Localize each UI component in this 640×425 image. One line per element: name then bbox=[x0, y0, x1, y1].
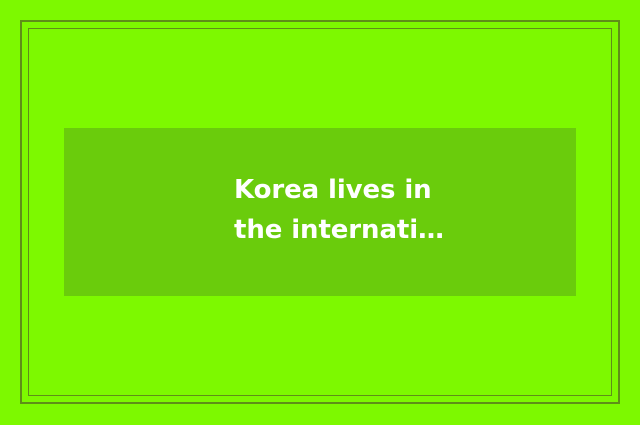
quote-text-block: Korea lives in the internati… bbox=[234, 170, 564, 250]
screenshot-canvas: Korea lives in the internati… bbox=[0, 0, 640, 425]
quote-line-1: Korea lives in bbox=[234, 170, 564, 210]
quote-line-2: the internati… bbox=[234, 210, 564, 250]
quote-card-panel: Korea lives in the internati… bbox=[64, 128, 576, 296]
